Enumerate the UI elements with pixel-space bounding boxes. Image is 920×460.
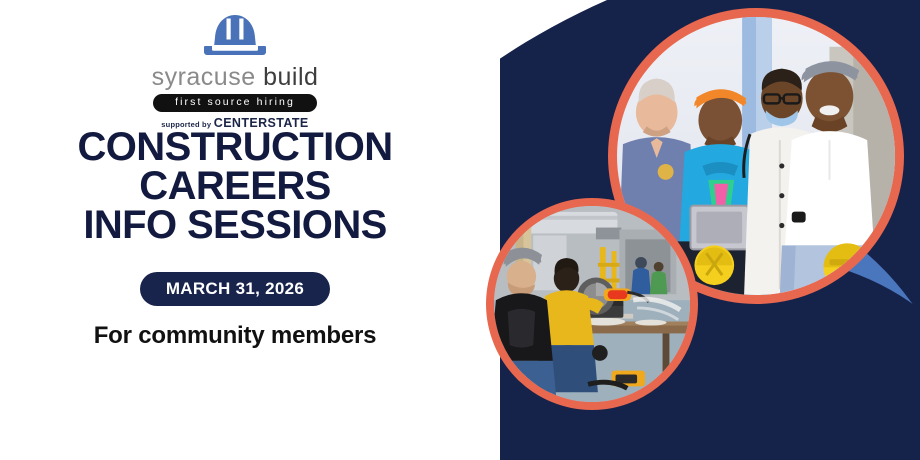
promotional-banner: syracuse build first source hiring suppo…: [0, 0, 920, 460]
content-column: syracuse build first source hiring suppo…: [0, 0, 470, 460]
logo-wordmark-second: build: [263, 63, 318, 91]
logo-wordmark-first: syracuse: [152, 63, 256, 91]
logo-wordmark: syracuse build: [0, 65, 470, 90]
event-date-badge: MARCH 31, 2026: [140, 272, 330, 306]
workshop-illustration: [494, 206, 690, 402]
brand-logo: syracuse build first source hiring suppo…: [0, 12, 470, 130]
photo-workshop-miter-saw: [486, 198, 698, 410]
hard-hat-icon: [202, 12, 268, 62]
logo-tagline-pill: first source hiring: [153, 94, 317, 112]
headline-line-3: INFO SESSIONS: [0, 206, 470, 245]
audience-subtitle: For community members: [0, 322, 470, 350]
page-title: CONSTRUCTION CAREERS INFO SESSIONS: [0, 128, 470, 246]
date-badge-container: MARCH 31, 2026: [0, 272, 470, 306]
headline-line-2: CAREERS: [0, 167, 470, 206]
headline-line-1: CONSTRUCTION: [0, 128, 470, 167]
photo-workshop-miter-saw-image: [494, 206, 690, 402]
